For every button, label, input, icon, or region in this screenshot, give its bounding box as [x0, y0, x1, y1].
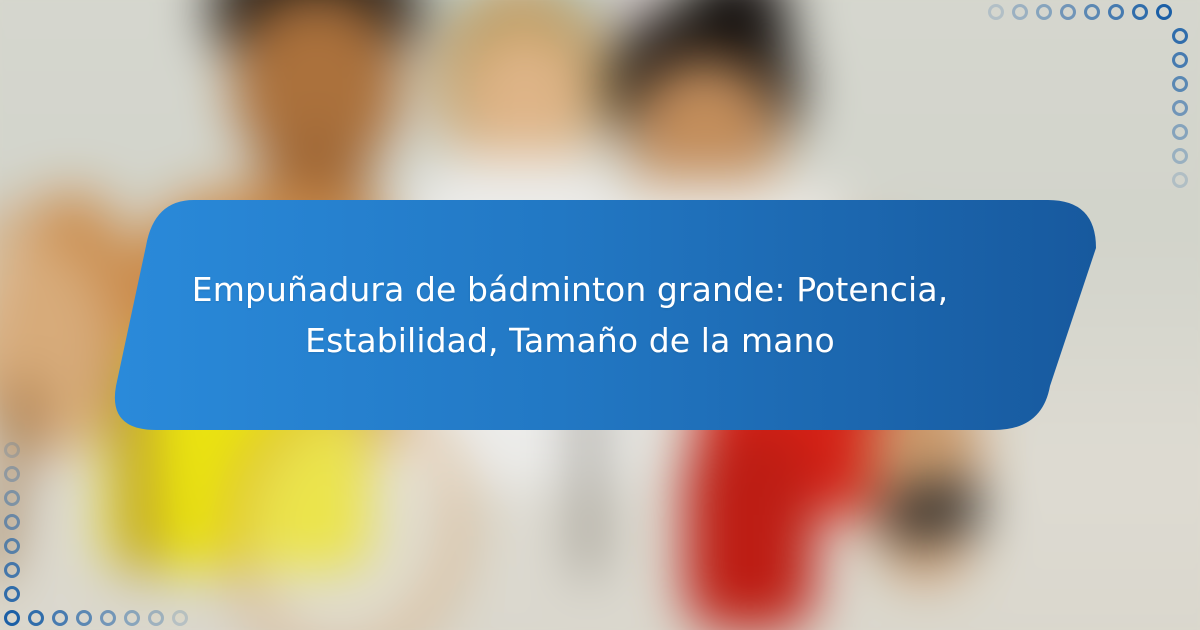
title-text-container: Empuñadura de bádminton grande: Potencia…: [120, 198, 1020, 432]
page-title: Empuñadura de bádminton grande: Potencia…: [160, 264, 980, 366]
player-three-red-leg: [685, 430, 815, 630]
poster-canvas: Empuñadura de bádminton grande: Potencia…: [0, 0, 1200, 630]
